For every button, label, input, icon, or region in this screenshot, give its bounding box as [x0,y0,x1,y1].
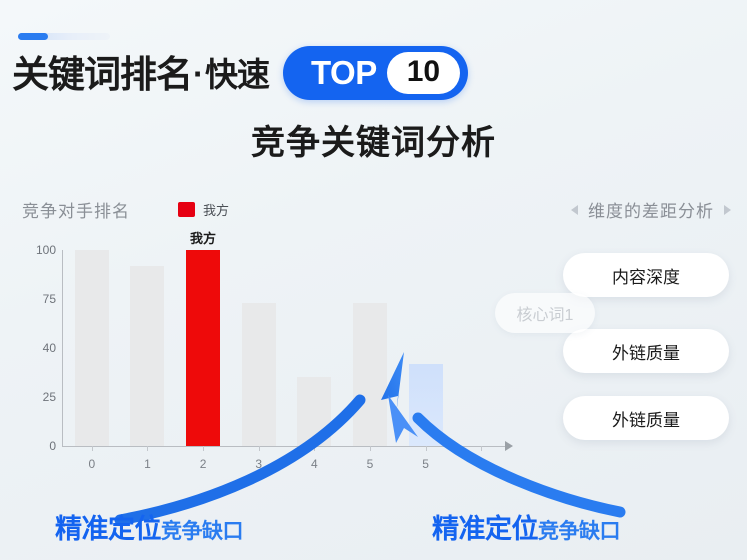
bar-group: 我方 [64,250,509,446]
ghost-keyword-label: 核心词1 [517,301,574,325]
triangle-left-icon [571,205,578,215]
bar-4[interactable] [297,377,331,446]
caption-right: 精准定位 竞争缺口 [432,507,620,546]
x-axis-tick: 1 [144,457,151,471]
y-axis-tick: 100 [36,243,56,257]
y-axis-line [62,250,63,446]
page-title: 竞争关键词分析 [0,115,747,164]
panel-title: 维度的差距分析 [588,197,714,222]
caption-left-weak: 竞争缺口 [161,515,243,545]
x-axis-tick: 5 [367,457,374,471]
bar-1[interactable] [130,266,164,446]
headline-sub: 快速 [205,58,269,91]
x-axis-tickmark [314,446,315,451]
bar-chart: 1007540250 我方 0123455 [18,250,518,450]
triangle-right-icon [724,205,731,215]
dimension-pill-2[interactable]: 外链质量 [563,396,729,440]
x-axis-tickmark [370,446,371,451]
bar-highlight-label: 我方 [190,228,216,247]
y-axis-tick: 0 [49,439,56,453]
bar-2[interactable] [186,250,220,446]
x-axis-tickmark [259,446,260,451]
caption-right-strong: 精准定位 [432,507,538,546]
x-axis-tickmark [203,446,204,451]
x-axis-labels: 0123455 [64,450,509,476]
caption-left-strong: 精准定位 [55,507,161,546]
progress-bar-fill [18,33,48,40]
x-axis-line [62,446,507,447]
caption-left: 精准定位 竞争缺口 [55,507,243,546]
bar-3[interactable] [242,303,276,446]
caption-right-weak: 竞争缺口 [538,515,620,545]
top-badge: TOP 10 [283,46,468,100]
badge-label: TOP [311,54,377,92]
headline-separator: · [192,55,205,93]
dimension-pill-label: 内容深度 [612,263,680,288]
dimension-pill-1[interactable]: 外链质量 [563,329,729,373]
x-axis-tickmark [481,446,482,451]
x-axis-tick: 3 [255,457,262,471]
progress-bar [18,33,110,40]
ghost-keyword-pill[interactable]: 核心词1 [495,293,595,333]
x-axis-tick: 5 [422,457,429,471]
badge-number: 10 [387,52,460,94]
bar-5[interactable] [353,303,387,446]
slide-canvas: 关键词排名 · 快速 TOP 10 竞争关键词分析 竞争对手排名 我方 1007… [0,0,747,560]
x-axis-tick: 4 [311,457,318,471]
x-axis-tickmark [426,446,427,451]
headline: 关键词排名 · 快速 [12,46,269,102]
dimension-pill-0[interactable]: 内容深度 [563,253,729,297]
dimension-pill-label: 外链质量 [612,339,680,364]
y-axis-tick: 75 [43,292,56,306]
y-axis-tick: 40 [43,341,56,355]
y-axis-labels: 1007540250 [18,250,56,450]
x-axis-tickmark [92,446,93,451]
x-axis-tick: 2 [200,457,207,471]
dimension-pill-label: 外链质量 [612,406,680,431]
y-axis-tick: 25 [43,390,56,404]
bar-0[interactable] [75,250,109,446]
x-axis-tickmark [147,446,148,451]
chart-title: 竞争对手排名 [22,197,130,222]
x-axis-tick: 0 [88,457,95,471]
bar-6[interactable] [409,364,443,446]
chart-legend: 我方 [178,200,229,219]
headline-main: 关键词排名 [12,56,192,93]
panel-header: 维度的差距分析 [571,197,731,222]
legend-label: 我方 [203,200,229,219]
chart-header: 竞争对手排名 我方 [22,197,229,222]
legend-swatch-icon [178,202,195,217]
